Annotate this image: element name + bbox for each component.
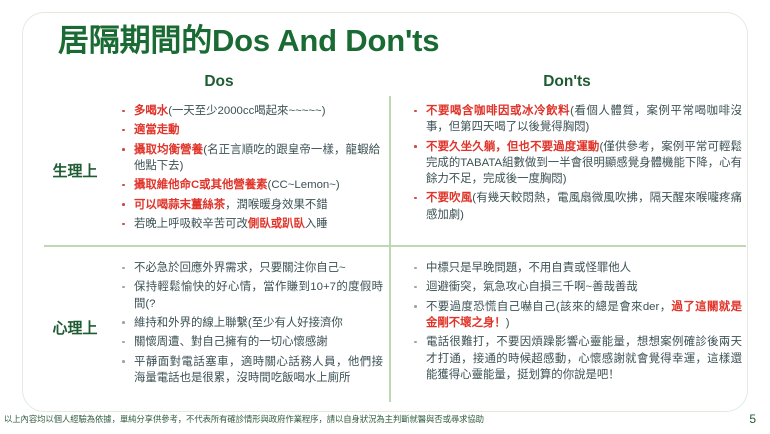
emphasis-text: 不要吹風 xyxy=(426,192,472,204)
list-item: 可以喝蒜末薑絲茶，潤喉暖身效果不錯 xyxy=(118,197,380,213)
list-item: 維持和外界的線上聯繫(至少有人好接濟你 xyxy=(118,315,383,331)
emphasis-text: 側臥或趴臥 xyxy=(248,218,305,230)
emphasis-text: 多喝水 xyxy=(134,105,168,117)
body-text: (有幾天較悶熱，電風扇微風吹拂，隔天醒來喉嚨疼痛感加劇) xyxy=(426,192,742,220)
vertical-divider xyxy=(389,96,391,402)
list-item: 適當走動 xyxy=(118,122,380,138)
list-item: 不要喝含咖啡因或冰冷飲料(看個人體質，案例平常喝咖啡沒事，但第四天喝了以後覺得胸… xyxy=(410,103,742,135)
list-item: 不要吹風(有幾天較悶熱，電風扇微風吹拂，隔天醒來喉嚨疼痛感加劇) xyxy=(410,190,742,222)
list-physical-donts: 不要喝含咖啡因或冰冷飲料(看個人體質，案例平常喝咖啡沒事，但第四天喝了以後覺得胸… xyxy=(410,103,742,226)
body-text: 平靜面對電話塞車，適時關心話務人員，他們接海量電話也是很累，沒時間吃飯喝水上廁所 xyxy=(134,356,383,384)
body-text: 入睡 xyxy=(305,218,328,230)
list-item: 多喝水(一天至少2000cc喝起來~~~~~) xyxy=(118,103,380,119)
list-item: 不要久坐久躺，但也不要過度運動(僅供參考，案例平常可輕鬆完成的TABATA組數做… xyxy=(410,139,742,188)
emphasis-text: 不要喝含咖啡因或冰冷飲料 xyxy=(426,105,570,117)
row-label-psychological: 心理上 xyxy=(32,317,118,338)
list-physical-dos: 多喝水(一天至少2000cc喝起來~~~~~)適當走動攝取均衡營養(名正言順吃的… xyxy=(118,103,380,235)
body-text: (CC~Lemon~) xyxy=(268,179,340,191)
horizontal-divider xyxy=(44,245,746,247)
row-label-physical: 生理上 xyxy=(32,160,118,181)
list-item: 若晚上呼吸較辛苦可改側臥或趴臥入睡 xyxy=(118,216,380,232)
list-item: 關懷周遭、對自己擁有的一切心懷感謝 xyxy=(118,334,383,350)
emphasis-text: 攝取均衡營養 xyxy=(134,144,203,156)
body-text: 迴避衝突，氣急攻心自損三千啊~善哉善哉 xyxy=(426,281,638,293)
body-text: 不要過度恐慌自己嚇自己(該來的總是會來der， xyxy=(426,301,672,313)
slide-root: 居隔期間的Dos And Don'ts Dos Don'ts 生理上 心理上 多… xyxy=(0,0,770,434)
emphasis-text: 攝取維他命C或其他營養素 xyxy=(134,179,268,191)
column-header-donts: Don'ts xyxy=(508,73,626,91)
list-item: 不必急於回應外界需求，只要關注你自己~ xyxy=(118,260,383,276)
list-psychological-donts: 中標只是早晚問題，不用自責或怪罪他人迴避衝突，氣急攻心自損三千啊~善哉善哉不要過… xyxy=(410,260,742,386)
body-text: 不必急於回應外界需求，只要關注你自己~ xyxy=(134,262,346,274)
body-text: 維持和外界的線上聯繫(至少有人好接濟你 xyxy=(134,317,343,329)
list-psychological-dos: 不必急於回應外界需求，只要關注你自己~保持輕鬆愉快的好心情，當作賺到10+7的度… xyxy=(118,260,383,389)
list-item: 迴避衝突，氣急攻心自損三千啊~善哉善哉 xyxy=(410,279,742,295)
list-item: 攝取均衡營養(名正言順吃的跟皇帝一樣，龍蝦給他點下去) xyxy=(118,142,380,174)
emphasis-text: 不要久坐久躺，但也不要過度運動 xyxy=(426,141,599,153)
list-item: 攝取維他命C或其他營養素(CC~Lemon~) xyxy=(118,177,380,193)
emphasis-text: 可以喝蒜末薑絲茶 xyxy=(134,199,225,211)
body-text: 保持輕鬆愉快的好心情，當作賺到10+7的度假時間(? xyxy=(134,281,383,309)
footer-disclaimer: 以上內容均以個人經驗為依據，單純分享供參考，不代表所有確診情形與政府作業程序，請… xyxy=(4,413,484,425)
column-header-dos: Dos xyxy=(160,73,278,91)
body-text: ) xyxy=(506,317,510,329)
list-item: 不要過度恐慌自己嚇自己(該來的總是會來der，過了這關就是金剛不壞之身！) xyxy=(410,299,742,331)
body-text: ，潤喉暖身效果不錯 xyxy=(225,199,328,211)
body-text: 中標只是早晚問題，不用自責或怪罪他人 xyxy=(426,262,631,274)
body-text: (一天至少2000cc喝起來~~~~~) xyxy=(168,105,325,117)
list-item: 平靜面對電話塞車，適時關心話務人員，他們接海量電話也是很累，沒時間吃飯喝水上廁所 xyxy=(118,354,383,386)
body-text: 若晚上呼吸較辛苦可改 xyxy=(134,218,248,230)
list-item: 保持輕鬆愉快的好心情，當作賺到10+7的度假時間(? xyxy=(118,279,383,311)
list-item: 電話很難打，不要因煩躁影響心靈能量，想想案例確診後兩天才打通，接通的時候超感動，… xyxy=(410,334,742,383)
page-number: 5 xyxy=(749,412,756,426)
body-text: 電話很難打，不要因煩躁影響心靈能量，想想案例確診後兩天才打通，接通的時候超感動，… xyxy=(426,336,742,380)
body-text: 關懷周遭、對自己擁有的一切心懷感謝 xyxy=(134,336,328,348)
page-title: 居隔期間的Dos And Don'ts xyxy=(58,22,439,61)
emphasis-text: 適當走動 xyxy=(134,124,180,136)
list-item: 中標只是早晚問題，不用自責或怪罪他人 xyxy=(410,260,742,276)
